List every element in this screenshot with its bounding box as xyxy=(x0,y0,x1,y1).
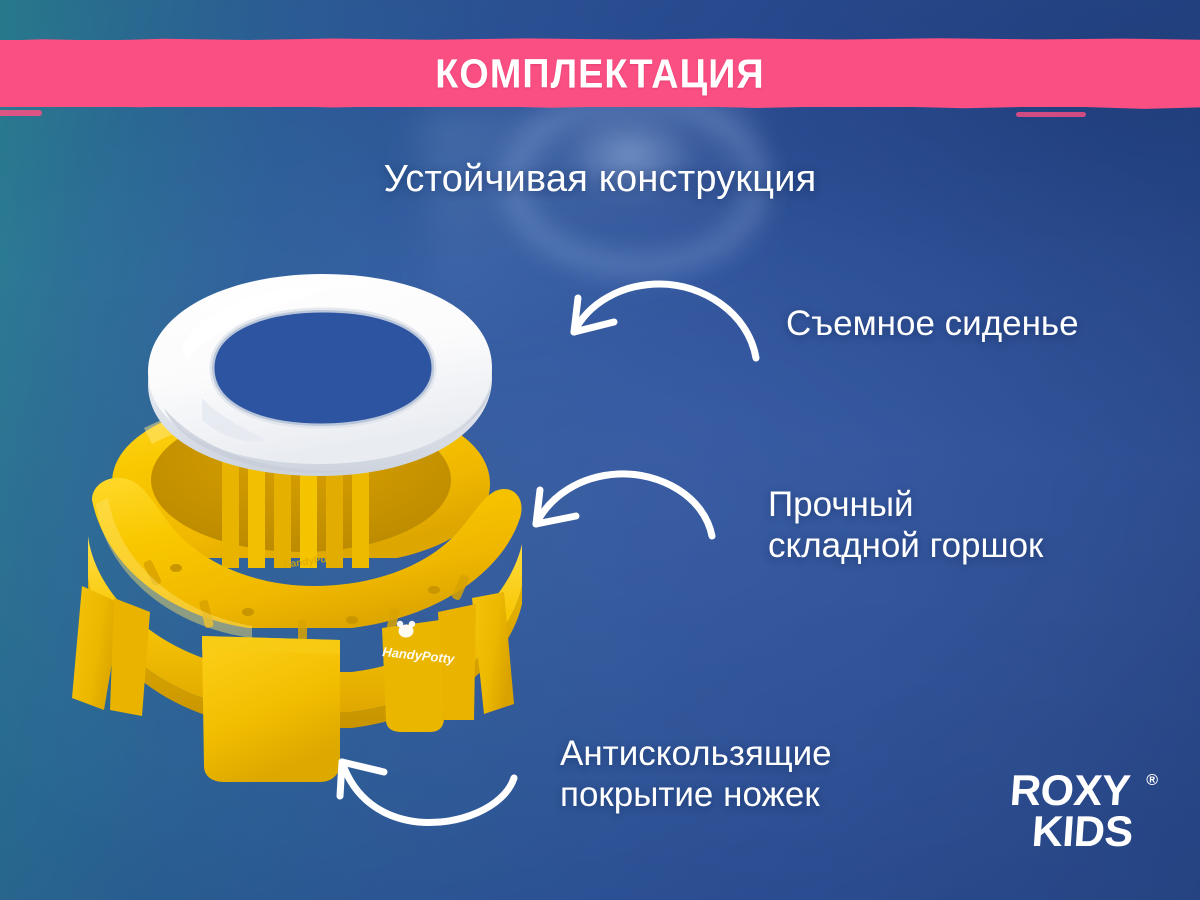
banner-brush-wisp-left xyxy=(0,110,42,116)
feature-label-folding-potty: Прочный складной горшок xyxy=(768,484,1043,567)
curved-arrow-seat xyxy=(552,276,767,371)
registered-trademark-icon: ® xyxy=(1146,772,1158,790)
header-banner: КОМПЛЕКТАЦИЯ xyxy=(0,40,1200,107)
feature-label-non-slip-feet: Антискользящие покрытие ножек xyxy=(560,733,832,816)
curved-arrow-potty xyxy=(512,466,732,566)
logo-text-kids: KIDS xyxy=(1031,812,1135,853)
page-headline: Устойчивая конструкция xyxy=(0,158,1200,201)
banner-brush-wisp-right xyxy=(1016,112,1086,117)
feature-label-removable-seat: Съемное сиденье xyxy=(786,303,1079,344)
product-image-folding-potty: HandyPotty HandyPotty xyxy=(52,268,572,798)
logo-text-roxy: ROXY xyxy=(1009,772,1132,812)
curved-arrow-feet xyxy=(318,730,538,830)
infographic-canvas: КОМПЛЕКТАЦИЯ Устойчивая конструкция xyxy=(0,0,1200,900)
brand-logo-roxy-kids: ROXY ® KIDS xyxy=(1010,772,1160,858)
banner-title: КОМПЛЕКТАЦИЯ xyxy=(42,50,1157,97)
